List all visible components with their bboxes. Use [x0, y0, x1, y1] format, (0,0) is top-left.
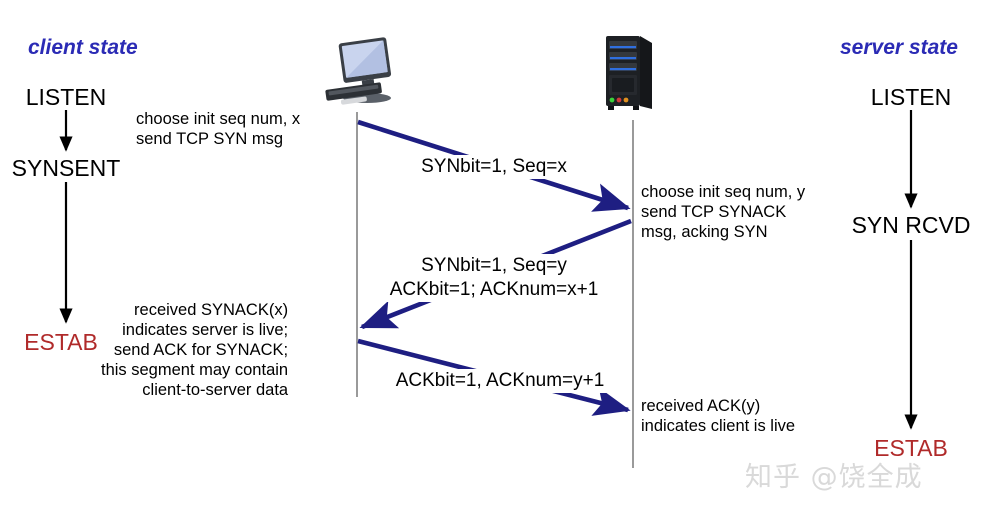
- message-label-syn: SYNbit=1, Seq=x: [418, 155, 570, 179]
- watermark: 知乎 @饶全成: [745, 455, 923, 494]
- tcp-handshake-diagram: client state server state LISTEN SYNSENT…: [0, 0, 982, 513]
- message-label-ack: ACKbit=1, ACKnum=y+1: [393, 369, 608, 393]
- message-label-synack: SYNbit=1, Seq=y ACKbit=1; ACKnum=x+1: [387, 254, 602, 302]
- server-tower-icon: [600, 30, 656, 114]
- desktop-computer-icon: [320, 36, 404, 112]
